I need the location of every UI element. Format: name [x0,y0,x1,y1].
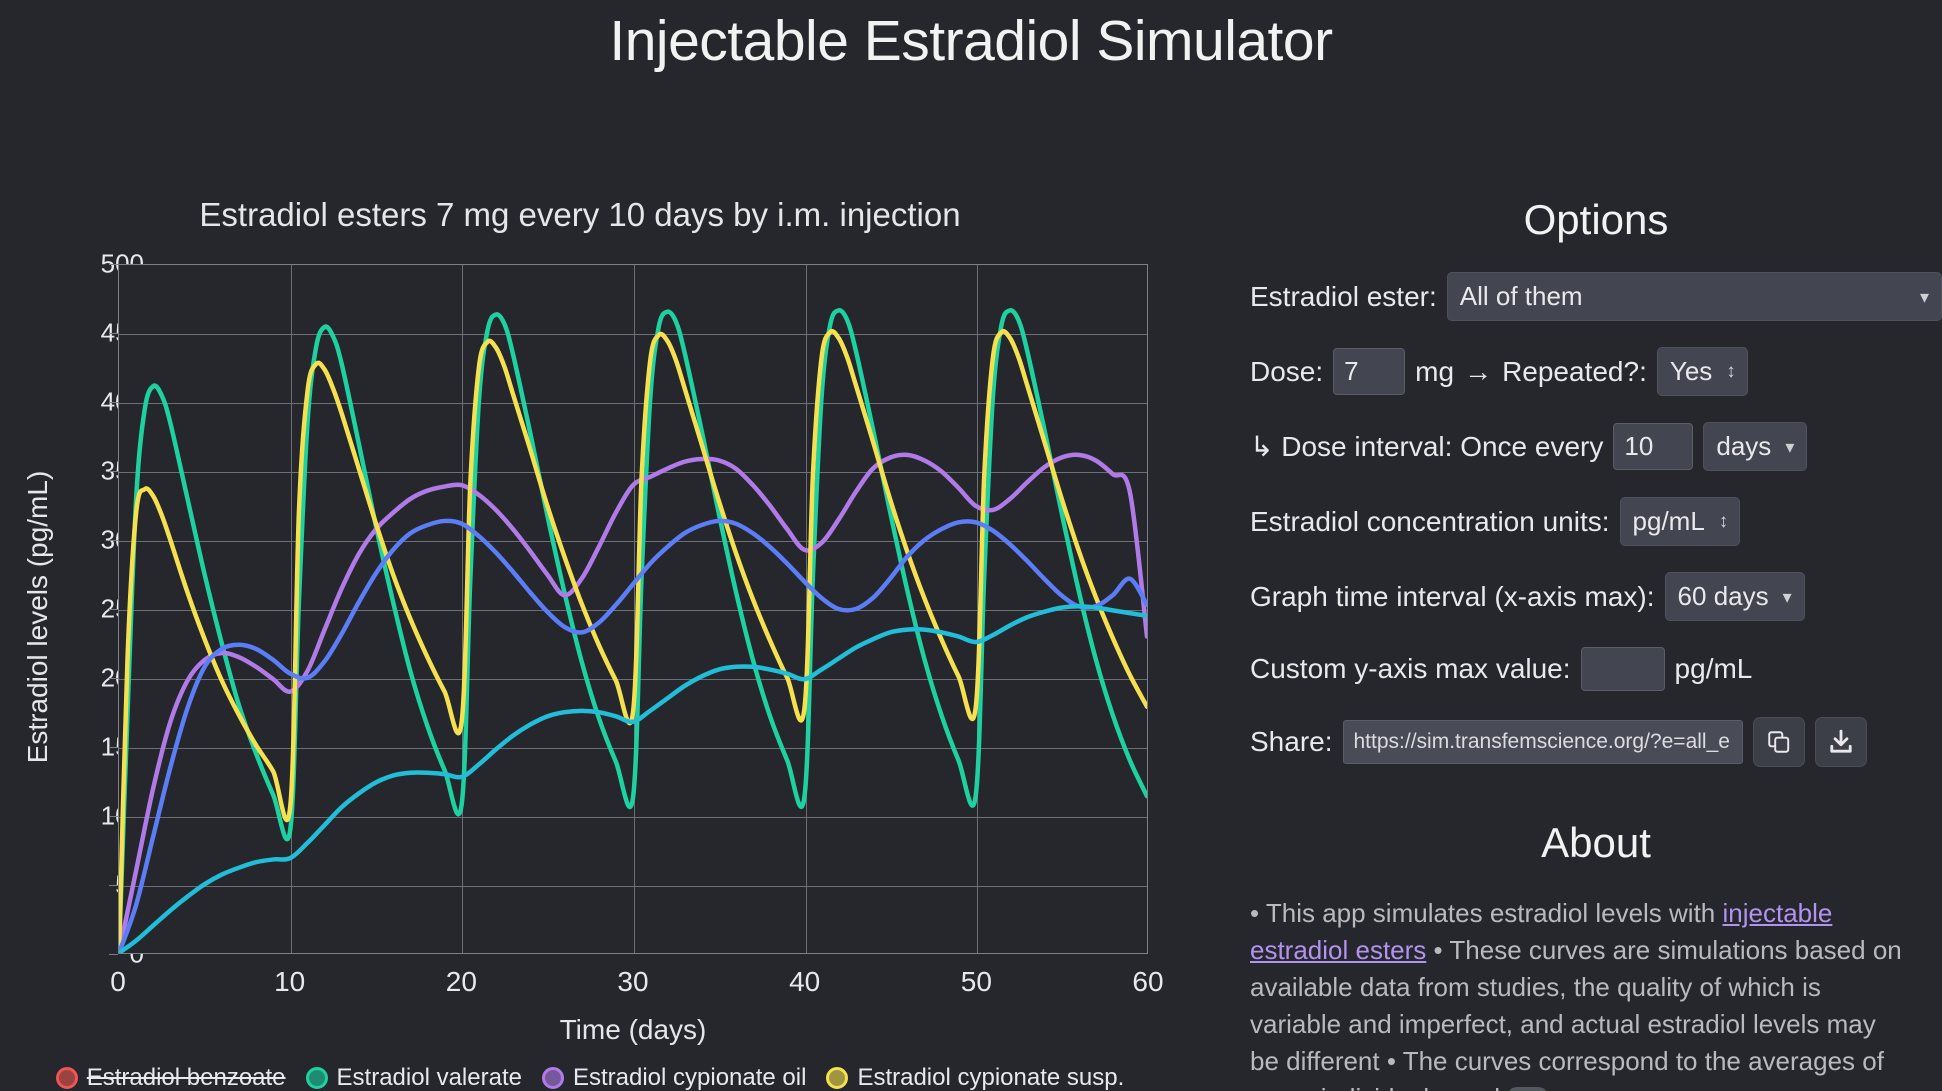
y-tick-mark [109,747,118,748]
repeated-select[interactable]: Yes ↕ [1657,347,1748,396]
chevron-down-icon: ▾ [1785,438,1794,456]
x-tick-label: 60 [1132,966,1163,998]
legend-item-label: Estradiol valerate [337,1064,522,1091]
x-axis-label: Time (days) [118,1014,1148,1046]
about-heading: About [1250,819,1942,867]
legend-color-swatch [306,1067,328,1089]
y-tick-mark [109,816,118,817]
page-title: Injectable Estradiol Simulator [0,8,1942,74]
legend-item[interactable]: Estradiol cypionate oil [542,1064,806,1091]
ester-label: Estradiol ester: [1250,281,1437,313]
legend-color-swatch [826,1067,848,1089]
arrow-icon: → [1464,356,1492,388]
about-text: • This app simulates estradiol levels wi… [1250,895,1910,1091]
units-select-value: pg/mL [1633,506,1705,537]
option-row-ester: Estradiol ester: All of them ▾ [1250,272,1942,321]
chart-title: Estradiol esters 7 mg every 10 days by i… [0,196,1160,234]
ester-select[interactable]: All of them ▾ [1447,272,1942,321]
ymax-input[interactable] [1581,647,1665,691]
options-heading: Options [1250,196,1942,244]
dose-input[interactable] [1333,348,1405,395]
ymax-unit: pg/mL [1675,653,1753,685]
dose-label: Dose: [1250,356,1323,388]
x-tick-label: 20 [446,966,477,998]
timespan-select-value: 60 days [1678,581,1769,612]
x-tick-label: 10 [274,966,305,998]
x-tick-label: 40 [789,966,820,998]
download-icon [1828,729,1854,755]
option-row-timespan: Graph time interval (x-axis max): 60 day… [1250,572,1942,621]
chevron-updown-icon: ↕ [1719,512,1728,531]
legend-item[interactable]: Estradiol benzoate [56,1064,286,1091]
x-tick-label: 30 [617,966,648,998]
chart-line [119,521,1147,953]
chart-panel: Estradiol esters 7 mg every 10 days by i… [0,74,1230,1074]
y-tick-mark [109,264,118,265]
options-panel: Options Estradiol ester: All of them ▾ D… [1230,74,1942,1074]
chevron-down-icon: ▾ [1783,588,1792,606]
interval-unit-select[interactable]: days ▾ [1703,422,1807,471]
y-axis-label: Estradiol levels (pg/mL) [22,357,54,877]
legend-item[interactable]: Estradiol cypionate susp. [826,1064,1124,1091]
chart-legend: Estradiol benzoateEstradiol valerateEstr… [0,1064,1180,1091]
share-url-input[interactable]: https://sim.transfemscience.org/?e=all_e [1343,720,1743,764]
y-tick-mark [109,885,118,886]
legend-item-label: Estradiol benzoate [87,1064,286,1091]
y-tick-mark [109,333,118,334]
repeated-select-value: Yes [1670,356,1712,387]
plot-area [118,264,1148,954]
legend-row: Estradiol benzoateEstradiol valerateEstr… [0,1064,1180,1091]
interval-unit-value: days [1716,431,1771,462]
legend-color-swatch [542,1067,564,1089]
option-row-units: Estradiol concentration units: pg/mL ↕ [1250,497,1942,546]
legend-item-label: Estradiol cypionate oil [573,1064,806,1091]
main-layout: Estradiol esters 7 mg every 10 days by i… [0,74,1942,1074]
timespan-label: Graph time interval (x-axis max): [1250,581,1655,613]
chevron-updown-icon: ↕ [1726,362,1735,381]
copy-link-button[interactable] [1753,717,1805,767]
x-tick-label: 50 [961,966,992,998]
legend-color-swatch [56,1067,78,1089]
ester-select-value: All of them [1460,281,1583,312]
option-row-dose: Dose: mg → Repeated?: Yes ↕ [1250,347,1942,396]
timespan-select[interactable]: 60 days ▾ [1665,572,1805,621]
share-label: Share: [1250,726,1333,758]
dose-unit: mg [1415,356,1454,388]
y-tick-mark [109,609,118,610]
show-more-button[interactable]: ••• [1507,1087,1548,1091]
option-row-interval: ↳ Dose interval: Once every days ▾ [1250,422,1942,471]
y-tick-mark [109,954,118,955]
y-tick-mark [109,540,118,541]
chevron-down-icon: ▾ [1920,288,1929,306]
y-tick-mark [109,471,118,472]
interval-label: ↳ Dose interval: Once every [1250,430,1603,463]
ymax-label: Custom y-axis max value: [1250,653,1571,685]
chart-line [119,310,1147,953]
units-label: Estradiol concentration units: [1250,506,1610,538]
option-row-ymax: Custom y-axis max value: pg/mL [1250,647,1942,691]
about-part1: • This app simulates estradiol levels wi… [1250,898,1723,928]
x-tick-label: 0 [110,966,126,998]
copy-icon [1766,729,1792,755]
download-button[interactable] [1815,717,1867,767]
legend-item-label: Estradiol cypionate susp. [857,1064,1124,1091]
legend-item[interactable]: Estradiol valerate [306,1064,522,1091]
y-tick-mark [109,678,118,679]
y-tick-mark [109,402,118,403]
chart-lines [119,265,1147,953]
plot-wrapper: Estradiol levels (pg/mL) 050100150200250… [0,256,1180,976]
units-select[interactable]: pg/mL ↕ [1620,497,1741,546]
repeated-label: Repeated?: [1502,356,1647,388]
option-row-share: Share: https://sim.transfemscience.org/?… [1250,717,1942,767]
interval-input[interactable] [1613,423,1693,470]
